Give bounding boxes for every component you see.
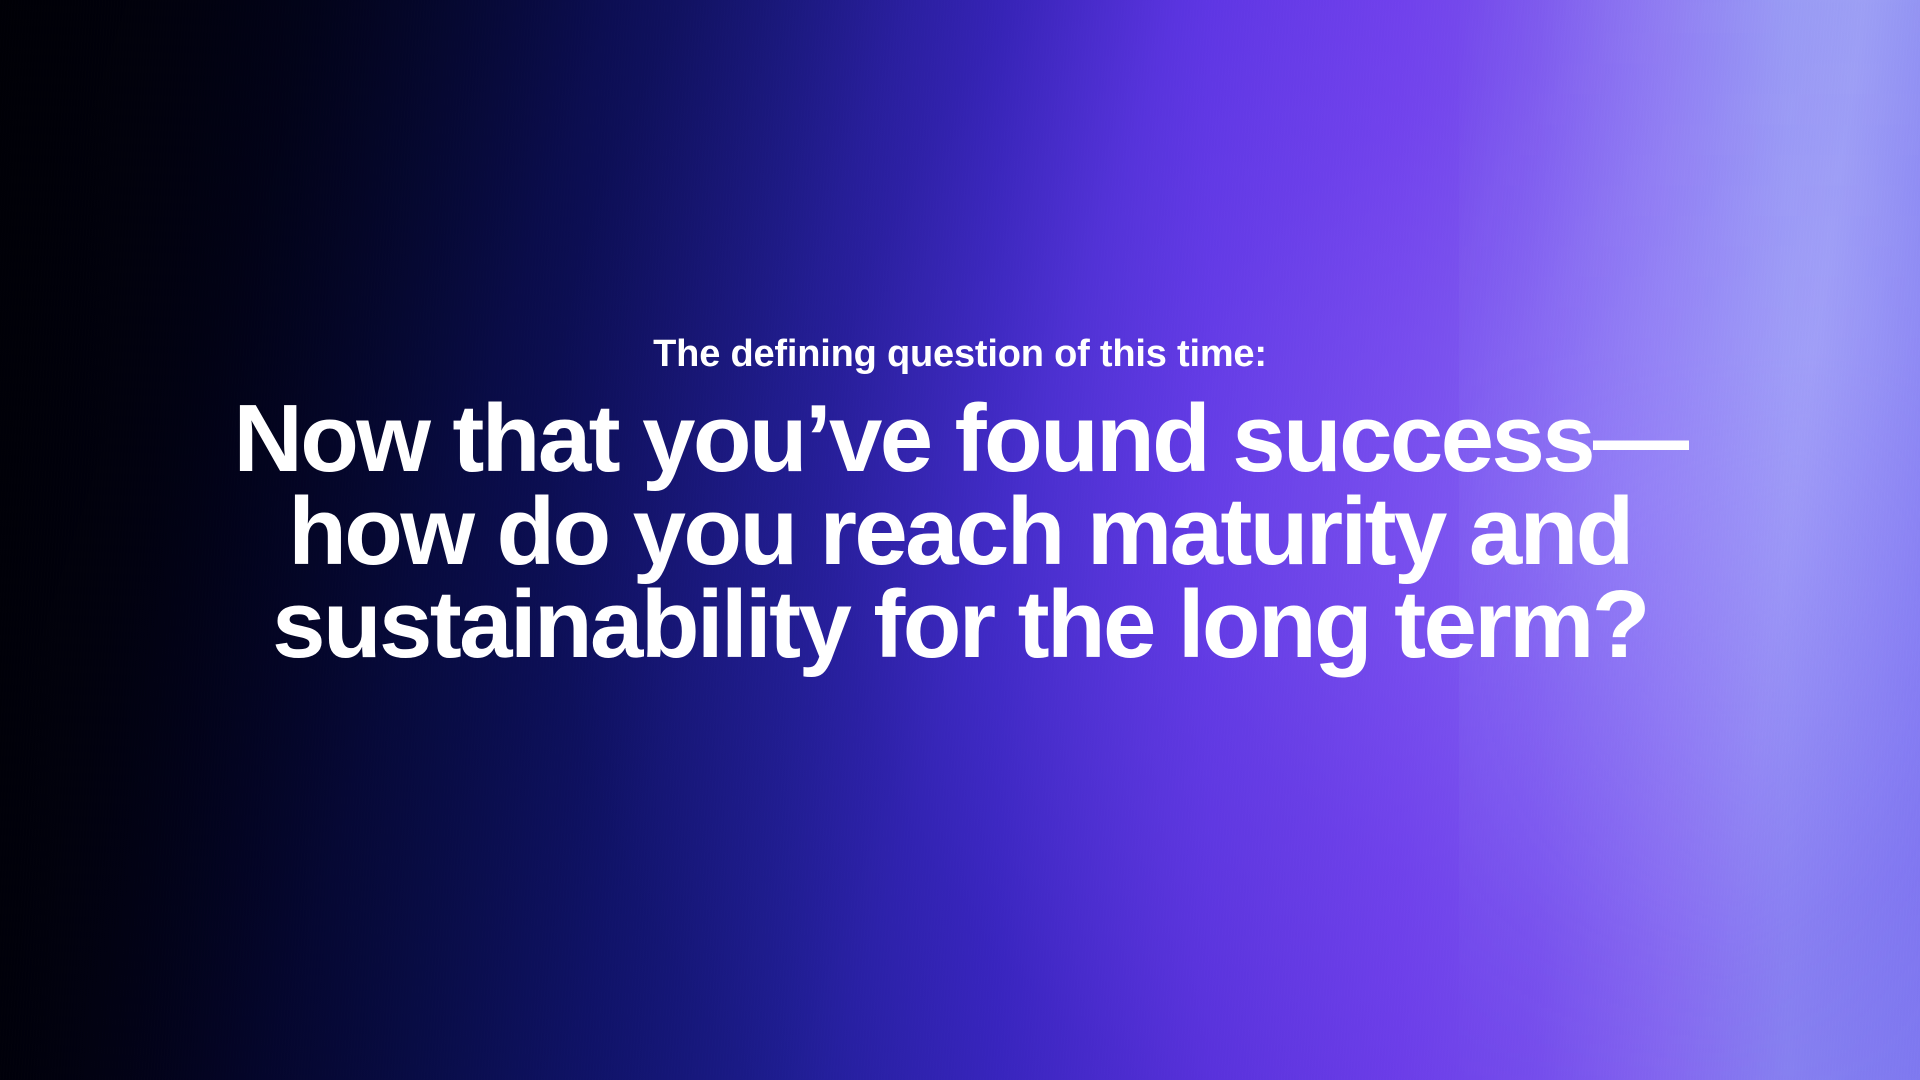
headline-line-2: how do you reach maturity and: [180, 485, 1740, 578]
slide-canvas: The defining question of this time: Now …: [0, 0, 1920, 1080]
page-title: Now that you’ve found success— how do yo…: [180, 392, 1740, 671]
headline-line-3: sustainability for the long term?: [180, 578, 1740, 671]
headline-line-1: Now that you’ve found success—: [180, 392, 1740, 485]
slide-text-block: The defining question of this time: Now …: [180, 333, 1740, 672]
eyebrow-label: The defining question of this time:: [180, 333, 1740, 377]
